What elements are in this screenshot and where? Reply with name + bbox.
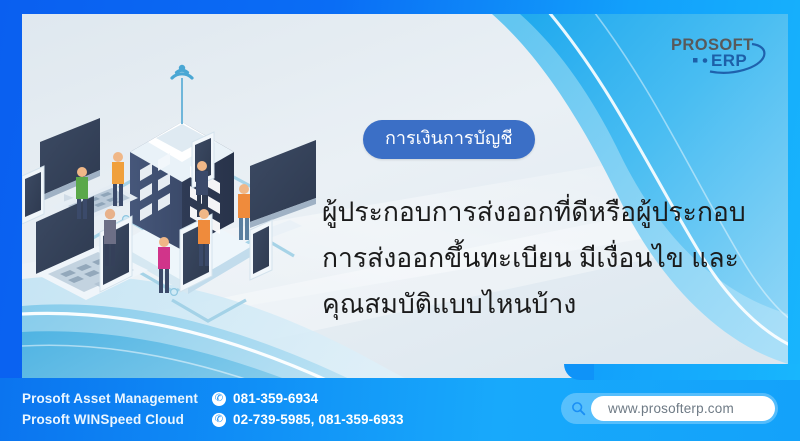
phone-number-1: 081-359-6934 (233, 388, 318, 409)
product-name-1: Prosoft Asset Management (22, 388, 212, 409)
phone-row-2[interactable]: ✆ 02-739-5985, 081-359-6933 (212, 409, 404, 430)
website-search-bar[interactable]: www.prosofterp.com (561, 393, 778, 424)
headline-line-3: คุณสมบัติแบบไหนบ้าง (322, 281, 774, 327)
headline: ผู้ประกอบการส่งออกที่ดีหรือผู้ประกอบ การ… (322, 189, 774, 327)
headline-line-1: ผู้ประกอบการส่งออกที่ดีหรือผู้ประกอบ (322, 189, 774, 235)
isometric-network-illustration (22, 54, 352, 354)
phone-number-2: 02-739-5985, 081-359-6933 (233, 409, 404, 430)
contact-info: Prosoft Asset Management Prosoft WINSpee… (22, 388, 404, 430)
category-badge[interactable]: การเงินการบัญชี (363, 120, 535, 159)
footer-notch (590, 364, 800, 380)
phone-icon: ✆ (212, 392, 226, 406)
logo-square-icon (693, 58, 698, 63)
logo-dot-icon (703, 58, 708, 63)
promo-banner: การเงินการบัญชี ผู้ประกอบการส่งออกที่ดีห… (0, 0, 800, 441)
phone-row-1[interactable]: ✆ 081-359-6934 (212, 388, 404, 409)
phone-numbers: ✆ 081-359-6934 ✆ 02-739-5985, 081-359-69… (212, 388, 404, 430)
logo-secondary-text: ERP (711, 51, 747, 70)
product-name-2: Prosoft WINSpeed Cloud (22, 409, 212, 430)
headline-line-2: การส่งออกขึ้นทะเบียน มีเงื่อนไข และ (322, 235, 774, 281)
search-icon (566, 396, 591, 421)
product-names: Prosoft Asset Management Prosoft WINSpee… (22, 388, 212, 430)
website-url-field[interactable]: www.prosofterp.com (591, 396, 775, 421)
phone-icon: ✆ (212, 413, 226, 427)
prosoft-erp-logo[interactable]: PROSOFT ERP (666, 30, 770, 76)
footer-bar: Prosoft Asset Management Prosoft WINSpee… (0, 378, 800, 441)
